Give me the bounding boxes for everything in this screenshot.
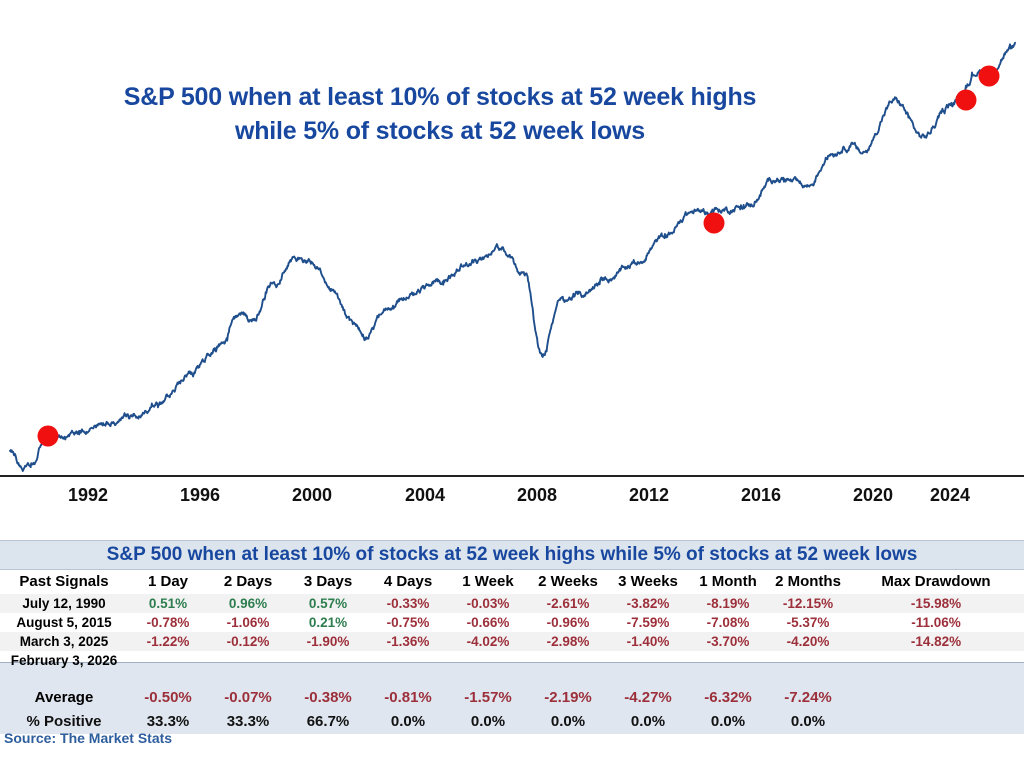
chart-panel: S&P 500 when at least 10% of stocks at 5… — [0, 0, 1024, 520]
cell-1-month — [688, 651, 768, 670]
summary-cell-pct-positive-1-week: 0.0% — [448, 710, 528, 734]
price-line-chart — [0, 0, 1024, 500]
col-header-1-week: 1 Week — [448, 570, 528, 594]
cell-4-days: -0.75% — [368, 613, 448, 632]
cell-max-drawdown: -14.82% — [848, 632, 1024, 651]
col-header-4-days: 4 Days — [368, 570, 448, 594]
cell-3-days: 0.57% — [288, 594, 368, 613]
summary-cell-average-2-months: -7.24% — [768, 686, 848, 710]
summary-cell-pct-positive-3-weeks: 0.0% — [608, 710, 688, 734]
cell-1-week: -0.66% — [448, 613, 528, 632]
summary-cell-average-1-day: -0.50% — [128, 686, 208, 710]
cell-1-month: -7.08% — [688, 613, 768, 632]
signal-date: February 3, 2026 — [0, 651, 128, 670]
summary-row-average: Average-0.50%-0.07%-0.38%-0.81%-1.57%-2.… — [0, 686, 1024, 710]
cell-3-weeks: -1.40% — [608, 632, 688, 651]
summary-label-average: Average — [0, 686, 128, 710]
cell-3-weeks — [608, 651, 688, 670]
cell-2-weeks: -2.61% — [528, 594, 608, 613]
x-tick-2008: 2008 — [517, 485, 557, 506]
col-header-2-months: 2 Months — [768, 570, 848, 594]
cell-3-days: 0.21% — [288, 613, 368, 632]
cell-1-month: -8.19% — [688, 594, 768, 613]
summary-cell-pct-positive-1-month: 0.0% — [688, 710, 768, 734]
stats-table-panel: S&P 500 when at least 10% of stocks at 5… — [0, 540, 1024, 740]
col-header-2-days: 2 Days — [208, 570, 288, 594]
cell-max-drawdown: -15.98% — [848, 594, 1024, 613]
summary-cell-pct-positive-2-weeks: 0.0% — [528, 710, 608, 734]
col-header-1-month: 1 Month — [688, 570, 768, 594]
x-tick-2020: 2020 — [853, 485, 893, 506]
summary-cell-average-max-drawdown — [848, 686, 1024, 710]
cell-2-days: -1.06% — [208, 613, 288, 632]
table-header-row: Past Signals 1 Day 2 Days 3 Days 4 Days … — [0, 570, 1024, 594]
x-tick-2000: 2000 — [292, 485, 332, 506]
x-tick-2016: 2016 — [741, 485, 781, 506]
signal-date: March 3, 2025 — [0, 632, 128, 651]
cell-1-day: -0.78% — [128, 613, 208, 632]
cell-2-days: 0.96% — [208, 594, 288, 613]
signal-date: August 5, 2015 — [0, 613, 128, 632]
cell-3-days: -1.90% — [288, 632, 368, 651]
signal-marker-august-5-2015 — [704, 213, 725, 234]
x-tick-1992: 1992 — [68, 485, 108, 506]
cell-2-months: -4.20% — [768, 632, 848, 651]
cell-1-week: -4.02% — [448, 632, 528, 651]
cell-1-month: -3.70% — [688, 632, 768, 651]
signal-marker-february-3-2026 — [979, 66, 1000, 87]
signal-marker-march-3-2025 — [956, 90, 977, 111]
cell-1-week — [448, 651, 528, 670]
cell-1-day: -1.22% — [128, 632, 208, 651]
signal-marker-july-12-1990 — [38, 426, 59, 447]
spacer-row — [0, 670, 1024, 686]
cell-3-days — [288, 651, 368, 670]
col-header-1-day: 1 Day — [128, 570, 208, 594]
summary-cell-average-3-weeks: -4.27% — [608, 686, 688, 710]
col-header-2-weeks: 2 Weeks — [528, 570, 608, 594]
cell-2-weeks — [528, 651, 608, 670]
x-tick-2004: 2004 — [405, 485, 445, 506]
cell-1-day — [128, 651, 208, 670]
signal-date: July 12, 1990 — [0, 594, 128, 613]
cell-3-weeks: -7.59% — [608, 613, 688, 632]
summary-cell-average-2-days: -0.07% — [208, 686, 288, 710]
table-row: March 3, 2025-1.22%-0.12%-1.90%-1.36%-4.… — [0, 632, 1024, 651]
table-row: July 12, 19900.51%0.96%0.57%-0.33%-0.03%… — [0, 594, 1024, 613]
summary-cell-average-1-month: -6.32% — [688, 686, 768, 710]
col-header-3-days: 3 Days — [288, 570, 368, 594]
cell-2-days — [208, 651, 288, 670]
x-tick-2024: 2024 — [930, 485, 970, 506]
summary-cell-average-3-days: -0.38% — [288, 686, 368, 710]
x-axis-tick-labels: 199219962000200420082012201620202024 — [0, 477, 1024, 519]
col-header-max-drawdown: Max Drawdown — [848, 570, 1024, 594]
cell-3-weeks: -3.82% — [608, 594, 688, 613]
cell-4-days: -1.36% — [368, 632, 448, 651]
summary-cell-average-1-week: -1.57% — [448, 686, 528, 710]
summary-cell-pct-positive-max-drawdown — [848, 710, 1024, 734]
cell-1-week: -0.03% — [448, 594, 528, 613]
cell-2-days: -0.12% — [208, 632, 288, 651]
cell-2-months: -5.37% — [768, 613, 848, 632]
cell-2-months: -12.15% — [768, 594, 848, 613]
table-banner-title: S&P 500 when at least 10% of stocks at 5… — [0, 540, 1024, 570]
cell-2-weeks: -2.98% — [528, 632, 608, 651]
cell-1-day: 0.51% — [128, 594, 208, 613]
table-row: August 5, 2015-0.78%-1.06%0.21%-0.75%-0.… — [0, 613, 1024, 632]
sp500-price-line — [10, 43, 1015, 471]
summary-cell-pct-positive-3-days: 66.7% — [288, 710, 368, 734]
x-tick-1996: 1996 — [180, 485, 220, 506]
col-header-3-weeks: 3 Weeks — [608, 570, 688, 594]
summary-cell-pct-positive-4-days: 0.0% — [368, 710, 448, 734]
summary-cell-pct-positive-2-days: 33.3% — [208, 710, 288, 734]
col-header-past-signals: Past Signals — [0, 570, 128, 594]
cell-2-weeks: -0.96% — [528, 613, 608, 632]
summary-cell-pct-positive-2-months: 0.0% — [768, 710, 848, 734]
source-note: Source: The Market Stats — [4, 730, 172, 746]
cell-4-days — [368, 651, 448, 670]
cell-max-drawdown: -11.06% — [848, 613, 1024, 632]
signals-table-body: July 12, 19900.51%0.96%0.57%-0.33%-0.03%… — [0, 594, 1024, 734]
cell-4-days: -0.33% — [368, 594, 448, 613]
summary-cell-average-4-days: -0.81% — [368, 686, 448, 710]
cell-max-drawdown — [848, 651, 1024, 670]
spacer-cell — [0, 670, 1024, 686]
x-tick-2012: 2012 — [629, 485, 669, 506]
slide-root: S&P 500 when at least 10% of stocks at 5… — [0, 0, 1024, 779]
signal-marker-layer — [38, 66, 1000, 447]
signals-table: Past Signals 1 Day 2 Days 3 Days 4 Days … — [0, 570, 1024, 734]
table-row: February 3, 2026 — [0, 651, 1024, 670]
summary-cell-average-2-weeks: -2.19% — [528, 686, 608, 710]
cell-2-months — [768, 651, 848, 670]
